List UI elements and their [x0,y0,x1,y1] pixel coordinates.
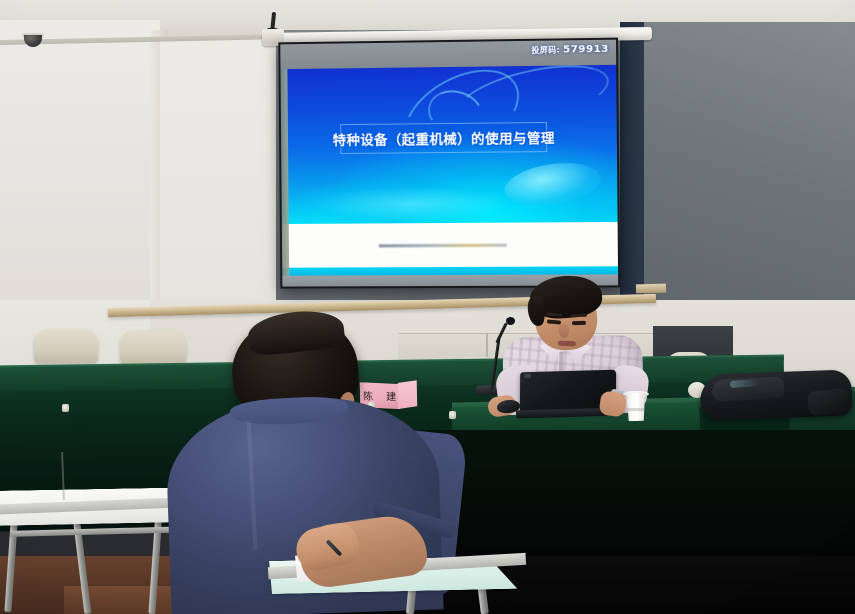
presenter-eye-right [572,321,586,325]
backpack-strap [807,388,849,416]
presenter-nose [559,324,569,338]
laptop-logo-icon [524,374,531,378]
table-fastener [449,411,456,419]
photo-scene: 投屏码: 579913 特种设备（起重机械）的使用与管理 [0,0,855,614]
table-fastener [62,404,69,412]
presenter-mouth [558,341,576,347]
presenter-hair-side [526,295,545,327]
presenter-eyebrow-right [571,314,587,318]
paper-cup-band [628,408,644,411]
